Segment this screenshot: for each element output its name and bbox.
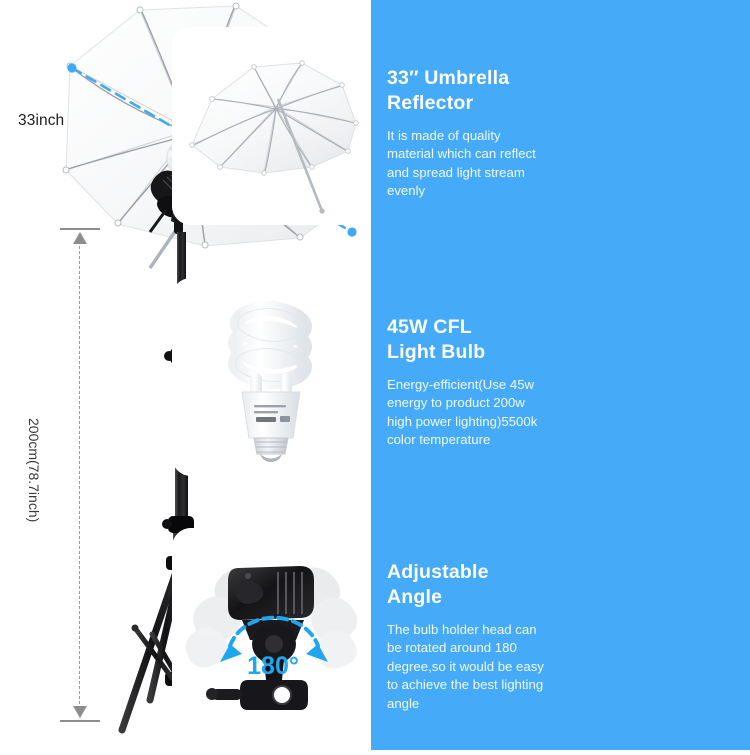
feature-description: It is made of quality material which can… [387,127,547,201]
white-translucent-umbrella-photo [172,27,369,225]
height-dimension-label: 200cm(78.7inch) [26,418,42,522]
feature-description: Energy-efficient(Use 45w energy to produ… [387,376,547,450]
height-dimension-ruler [60,228,100,722]
ruler-bottom-cap [60,720,100,722]
feature-title: Adjustable Angle [387,560,547,610]
card-adjustable-angle: 180° [172,528,369,726]
infographic-canvas: 33inch 200cm(78.7inch) 33″ Umbrella Refl… [0,0,750,750]
feature-title: 45W CFL Light Bulb [387,315,547,365]
features-panel: 33″ Umbrella Reflector It is made of qua… [371,0,750,750]
feature-title-line2: Angle [387,586,442,608]
ruler-arrow-down-icon [73,706,87,718]
spiral-cfl-bulb-photo [172,278,369,476]
feature-title-line2: Light Bulb [387,341,485,363]
feature-cfl-light-bulb: 45W CFL Light Bulb Energy-efficient(Use … [387,315,547,450]
feature-adjustable-angle: Adjustable Angle The bulb holder head ca… [387,560,547,713]
rotation-angle-label: 180° [247,652,299,680]
card-cfl-light-bulb [172,278,369,476]
feature-title-line1: 33″ Umbrella [387,67,509,89]
ruler-top-cap [60,228,100,230]
feature-title-line2: Reflector [387,92,473,114]
feature-description: The bulb holder head can be rotated arou… [387,621,547,713]
feature-title: 33″ Umbrella Reflector [387,66,547,116]
ruler-dashed-line [79,236,80,714]
ruler-arrow-up-icon [73,232,87,244]
feature-title-line1: 45W CFL [387,316,472,338]
feature-title-line1: Adjustable [387,561,489,583]
card-umbrella-reflector [172,27,369,225]
diagonal-dimension-label: 33inch [18,112,64,130]
feature-umbrella-reflector: 33″ Umbrella Reflector It is made of qua… [387,66,547,201]
bulb-holder-swivel-photo: 180° [172,528,369,726]
holder-head [228,566,314,620]
